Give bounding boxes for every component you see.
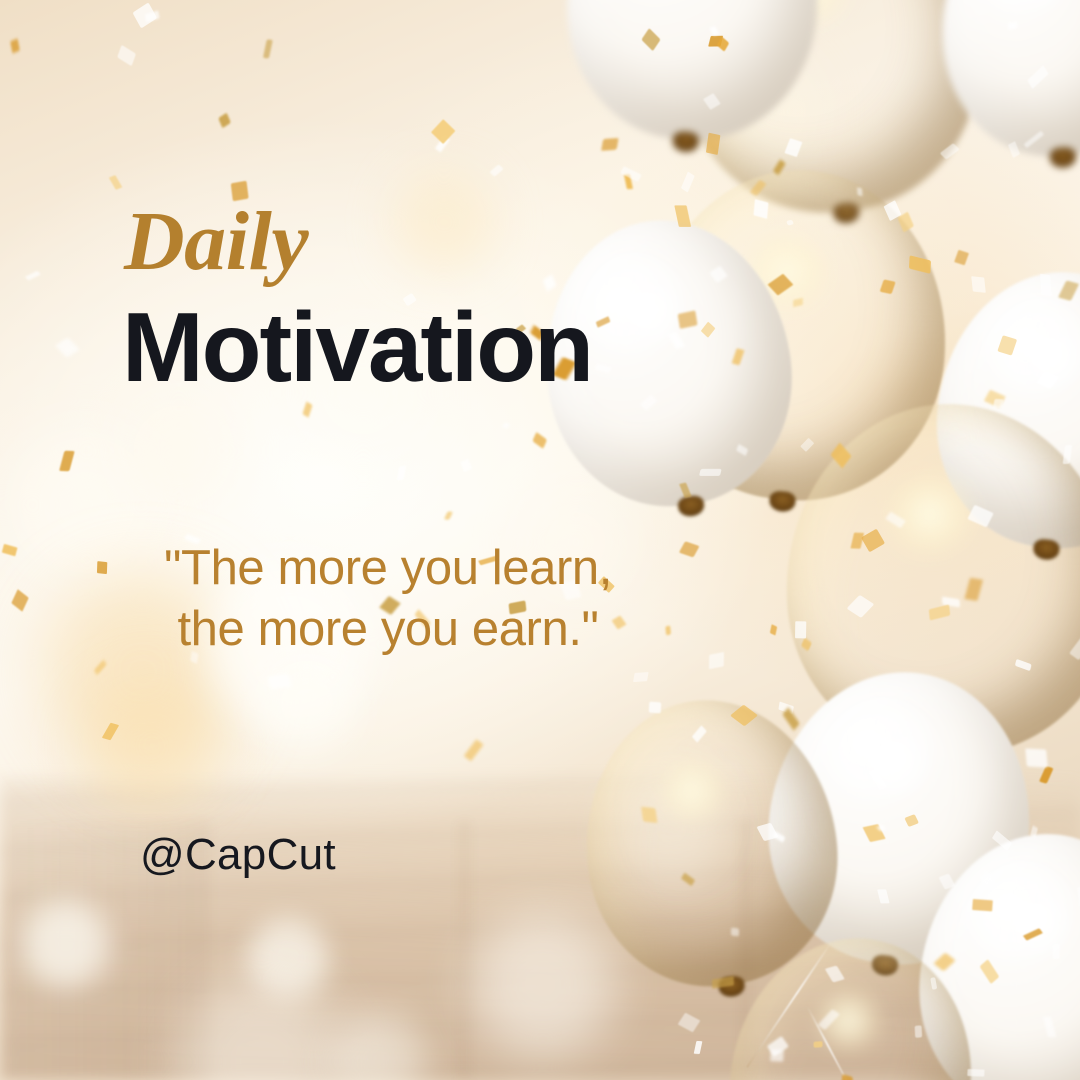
balloon-knot [718,975,746,998]
balloon-highlight [808,985,888,1055]
quote-text: "The more you learn, the more you earn." [118,538,658,660]
balloon-highlight [1004,0,1073,8]
balloon-highlight [878,472,982,556]
balloon-highlight [996,889,1074,956]
balloon-knot [769,490,797,512]
page-title: Motivation [122,296,592,399]
poster-canvas: Daily Motivation "The more you learn, th… [0,0,1080,1080]
balloon-highlight [851,725,936,798]
quote-line-2: the more you earn." [118,599,658,660]
quote-line-1: "The more you learn, [118,538,658,599]
account-handle: @CapCut [140,830,336,880]
text-content: Daily Motivation "The more you learn, th… [0,0,700,1080]
balloon-knot [1050,147,1077,168]
eyebrow-daily: Daily [124,200,308,284]
balloon-highlight [1013,323,1080,391]
